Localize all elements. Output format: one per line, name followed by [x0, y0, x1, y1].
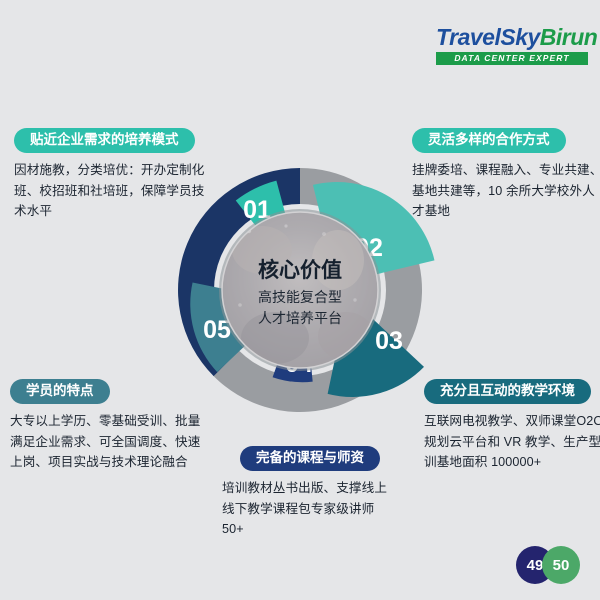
callout-02-title: 灵活多样的合作方式 — [412, 128, 566, 153]
callout-01-body: 因材施教，分类培优：开办定制化班、校招班和社培班，保障学员技术水平 — [14, 160, 206, 221]
callout-04-title: 完备的课程与师资 — [240, 446, 380, 471]
callout-block-02: 灵活多样的合作方式 挂牌委培、课程融入、专业共建、基地共建等，10 余所大学校外… — [412, 128, 600, 221]
callout-03-body: 互联网电视教学、双师课堂O2O、规划云平台和 VR 教学、生产型实训基地面积 1… — [424, 411, 600, 472]
wheel-segment-03-number: 03 — [375, 327, 403, 355]
callout-05-body: 大专以上学历、零基础受训、批量满足企业需求、可全国调度、快速上岗、项目实战与技术… — [10, 411, 202, 472]
hub-title: 核心价值 — [258, 258, 342, 282]
logo-wordmark: TravelSkyBirun — [436, 26, 588, 49]
callout-02-body: 挂牌委培、课程融入、专业共建、基地共建等，10 余所大学校外人才基地 — [412, 160, 600, 221]
callout-block-01: 贴近企业需求的培养模式 因材施教，分类培优：开办定制化班、校招班和社培班，保障学… — [14, 128, 206, 221]
callout-03-title: 充分且互动的教学环境 — [424, 379, 591, 404]
callout-05-title: 学员的特点 — [10, 379, 110, 404]
page-number-badges: 49 50 — [516, 546, 586, 586]
callout-block-05: 学员的特点 大专以上学历、零基础受训、批量满足企业需求、可全国调度、快速上岗、项… — [10, 379, 202, 472]
page-badge-50[interactable]: 50 — [542, 546, 580, 584]
brand-logo: TravelSkyBirun DATA CENTER EXPERT — [436, 26, 588, 65]
hub-subtitle-line1: 高技能复合型 — [258, 289, 342, 305]
callout-block-04: 完备的课程与师资 培训教材丛书出版、支撑线上线下教学课程包专家级讲师 50+ — [222, 446, 398, 539]
logo-tagline: DATA CENTER EXPERT — [436, 52, 588, 65]
callout-01-title: 贴近企业需求的培养模式 — [14, 128, 195, 153]
logo-wordmark-blue: TravelSky — [436, 24, 540, 50]
callout-04-body: 培训教材丛书出版、支撑线上线下教学课程包专家级讲师 50+ — [222, 478, 398, 539]
logo-wordmark-green: Birun — [540, 24, 598, 50]
callout-block-03: 充分且互动的教学环境 互联网电视教学、双师课堂O2O、规划云平台和 VR 教学、… — [424, 379, 600, 472]
hub-subtitle-line2: 人才培养平台 — [258, 310, 342, 326]
